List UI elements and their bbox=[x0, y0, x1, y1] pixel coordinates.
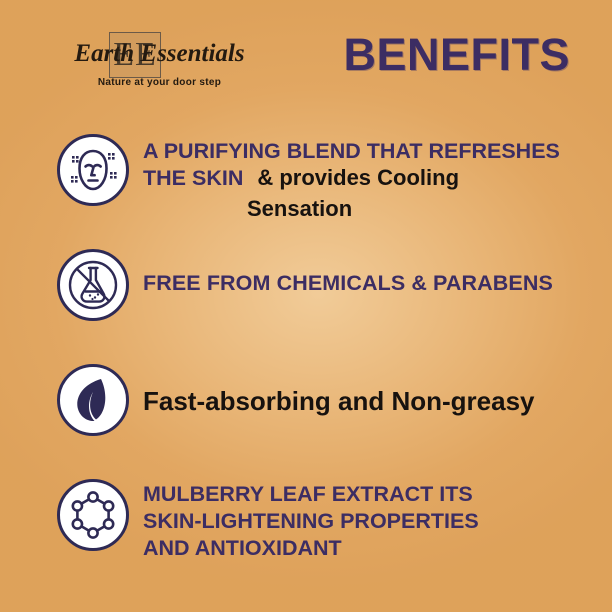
benefit-1-line2-black: & provides Cooling bbox=[257, 165, 459, 190]
benefit-2-text: FREE FROM CHEMICALS & PARABENS bbox=[143, 249, 612, 296]
benefit-item-1: A PURIFYING BLEND THAT REFRESHES THE SKI… bbox=[0, 134, 612, 224]
benefit-1-line3: Sensation bbox=[143, 194, 586, 224]
benefit-4-line1: MULBERRY LEAF EXTRACT ITS bbox=[143, 481, 586, 508]
benefit-3-text: Fast-absorbing and Non-greasy bbox=[143, 364, 612, 416]
benefit-1-line2-purple: THE SKIN bbox=[143, 166, 243, 190]
brand-logo: EE Earth Essentials Nature at your door … bbox=[52, 32, 267, 90]
benefit-item-2: FREE FROM CHEMICALS & PARABENS bbox=[0, 249, 612, 321]
page-title: BENEFITS bbox=[343, 29, 570, 81]
logo-brand-name: Earth Essentials bbox=[52, 40, 267, 68]
benefit-2-line1: FREE FROM CHEMICALS & PARABENS bbox=[143, 271, 586, 296]
benefit-4-line3: AND ANTIOXIDANT bbox=[143, 535, 586, 562]
benefit-1-line1: A PURIFYING BLEND THAT REFRESHES bbox=[143, 138, 586, 164]
benefit-3-line1: Fast-absorbing and Non-greasy bbox=[143, 368, 586, 416]
no-chemicals-flask-icon bbox=[57, 249, 129, 321]
benefit-item-3: Fast-absorbing and Non-greasy bbox=[0, 364, 612, 436]
poster-header: EE Earth Essentials Nature at your door … bbox=[0, 0, 612, 110]
leaf-icon bbox=[57, 364, 129, 436]
molecule-ring-icon bbox=[57, 479, 129, 551]
benefit-1-text: A PURIFYING BLEND THAT REFRESHES THE SKI… bbox=[143, 134, 612, 224]
benefits-poster: EE Earth Essentials Nature at your door … bbox=[0, 0, 612, 612]
benefit-4-line2: SKIN-LIGHTENING PROPERTIES bbox=[143, 508, 586, 535]
benefit-item-4: MULBERRY LEAF EXTRACT ITS SKIN-LIGHTENIN… bbox=[0, 479, 612, 562]
benefit-4-text: MULBERRY LEAF EXTRACT ITS SKIN-LIGHTENIN… bbox=[143, 479, 612, 562]
face-sparkle-icon bbox=[57, 134, 129, 206]
logo-tagline: Nature at your door step bbox=[52, 77, 267, 88]
benefit-1-line2: THE SKIN& provides Cooling bbox=[143, 164, 586, 194]
